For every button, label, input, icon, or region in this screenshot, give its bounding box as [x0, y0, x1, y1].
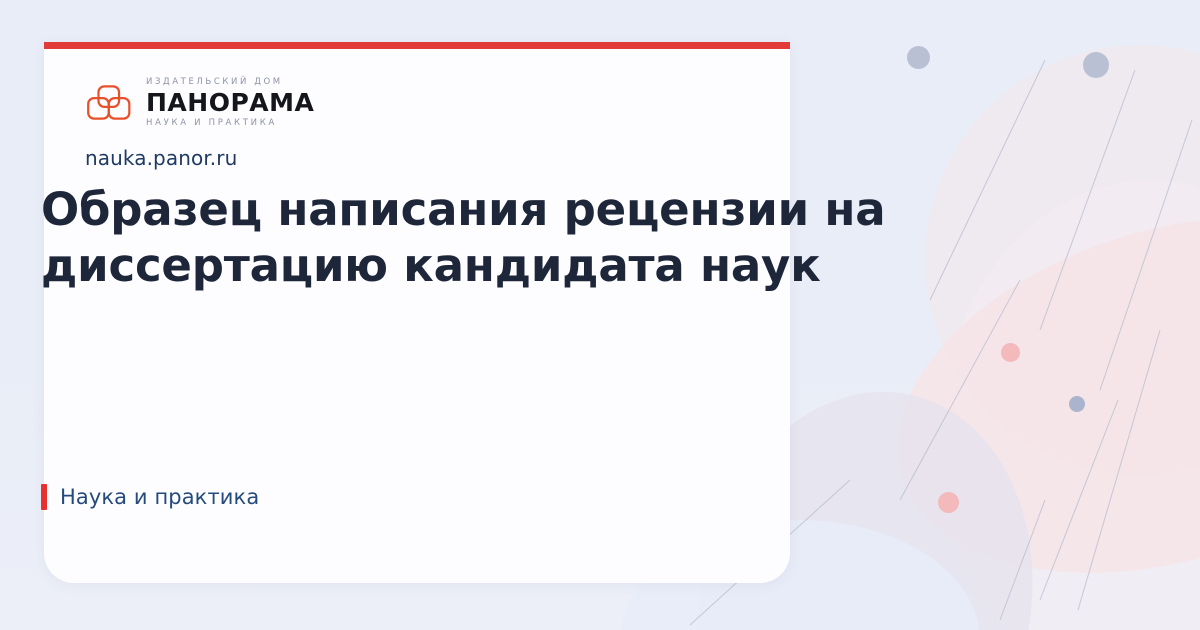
- decorative-hairline-5: [1040, 400, 1118, 600]
- publisher-logo-text: ИЗДАТЕЛЬСКИЙ ДОМ ПАНОРАМА НАУКА И ПРАКТИ…: [146, 78, 314, 127]
- share-card-canvas: ИЗДАТЕЛЬСКИЙ ДОМ ПАНОРАМА НАУКА И ПРАКТИ…: [0, 0, 1200, 630]
- dot-gray-mid-right: [1069, 396, 1085, 412]
- dot-pink-lower: [938, 492, 959, 513]
- panorama-logo-icon: [86, 84, 133, 121]
- publisher-logo[interactable]: ИЗДАТЕЛЬСКИЙ ДОМ ПАНОРАМА НАУКА И ПРАКТИ…: [86, 78, 314, 127]
- page-title: Образец написания рецензии на диссертаци…: [41, 182, 1041, 295]
- site-url-link[interactable]: nauka.panor.ru: [85, 146, 237, 170]
- decorative-hairline-2: [1040, 70, 1135, 330]
- publisher-subtitle: НАУКА И ПРАКТИКА: [146, 119, 314, 128]
- decorative-hairline-3: [1100, 120, 1192, 390]
- decorative-hairline-4: [900, 280, 1020, 500]
- card-accent-bar: [44, 42, 790, 49]
- dot-gray-top-left: [907, 46, 930, 69]
- dot-gray-top-right: [1083, 52, 1109, 78]
- category-footer[interactable]: Наука и практика: [41, 484, 259, 510]
- category-label: Наука и практика: [60, 485, 259, 509]
- decorative-hairline-7: [1000, 500, 1045, 620]
- publisher-kicker: ИЗДАТЕЛЬСКИЙ ДОМ: [146, 78, 314, 87]
- category-accent-bar: [41, 484, 47, 510]
- publisher-name: ПАНОРАМА: [146, 90, 314, 115]
- dot-pink-mid: [1001, 343, 1020, 362]
